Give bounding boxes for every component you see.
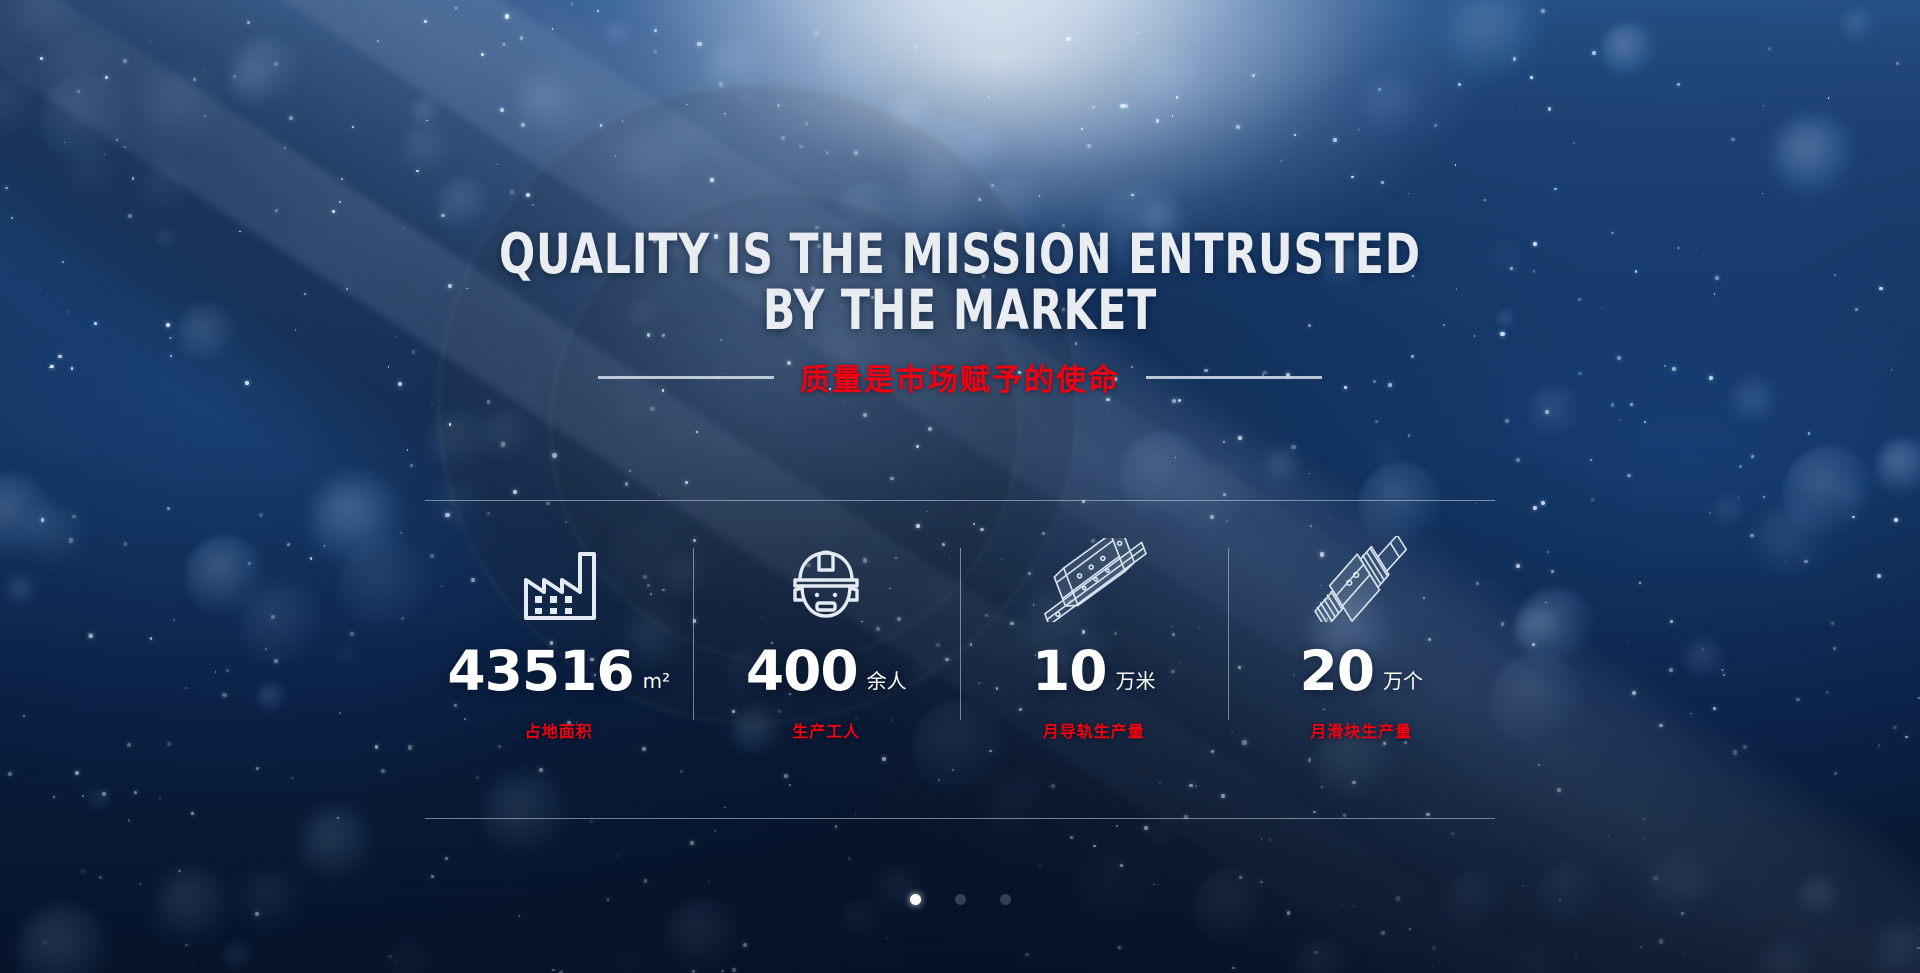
stat-unit: 万米 (1116, 671, 1156, 691)
stat-item: 20 万个 月滑块生产量 (1228, 530, 1496, 742)
carousel-dot[interactable] (955, 894, 966, 905)
hero-banner: QUALITY IS THE MISSION ENTRUSTED BY THE … (0, 0, 1920, 973)
stat-item: 10 万米 月导轨生产量 (960, 530, 1228, 742)
stat-value: 10 万米 (960, 644, 1228, 699)
stat-value: 43516 m² (425, 644, 693, 699)
stat-label: 占地面积 (425, 718, 693, 742)
stat-label: 生产工人 (693, 718, 961, 742)
stat-unit: 万个 (1383, 671, 1423, 691)
subtitle-rule-left (598, 376, 774, 379)
factory-icon (425, 534, 693, 622)
stats-row: 43516 m² 占地面积 (425, 530, 1495, 742)
stat-item: 400 余人 生产工人 (693, 530, 961, 742)
stat-number: 20 (1299, 644, 1374, 699)
subtitle-row: 质量是市场赋予的使命 (0, 355, 1920, 399)
stats-divider-top (425, 500, 1495, 501)
subtitle-text: 质量是市场赋予的使命 (800, 355, 1120, 399)
stat-value: 400 余人 (693, 644, 961, 699)
stat-number: 10 (1032, 644, 1107, 699)
stat-value: 20 万个 (1228, 644, 1496, 699)
stat-label: 月导轨生产量 (960, 718, 1228, 742)
worker-helmet-icon (693, 534, 961, 622)
stat-item: 43516 m² 占地面积 (425, 530, 693, 742)
carousel-pagination[interactable] (0, 894, 1920, 905)
stat-unit: 余人 (867, 671, 907, 691)
stat-unit: m² (643, 671, 671, 691)
linear-guide-rail-icon (960, 534, 1228, 622)
stat-label: 月滑块生产量 (1228, 718, 1496, 742)
page-title: QUALITY IS THE MISSION ENTRUSTED BY THE … (134, 226, 1785, 338)
stat-number: 43516 (447, 644, 633, 699)
subtitle-rule-right (1146, 376, 1322, 379)
stats-divider-bottom (425, 818, 1495, 819)
stat-number: 400 (746, 644, 858, 699)
carousel-dot[interactable] (1000, 894, 1011, 905)
carousel-dot[interactable] (910, 894, 921, 905)
ball-screw-slider-icon (1228, 534, 1496, 622)
